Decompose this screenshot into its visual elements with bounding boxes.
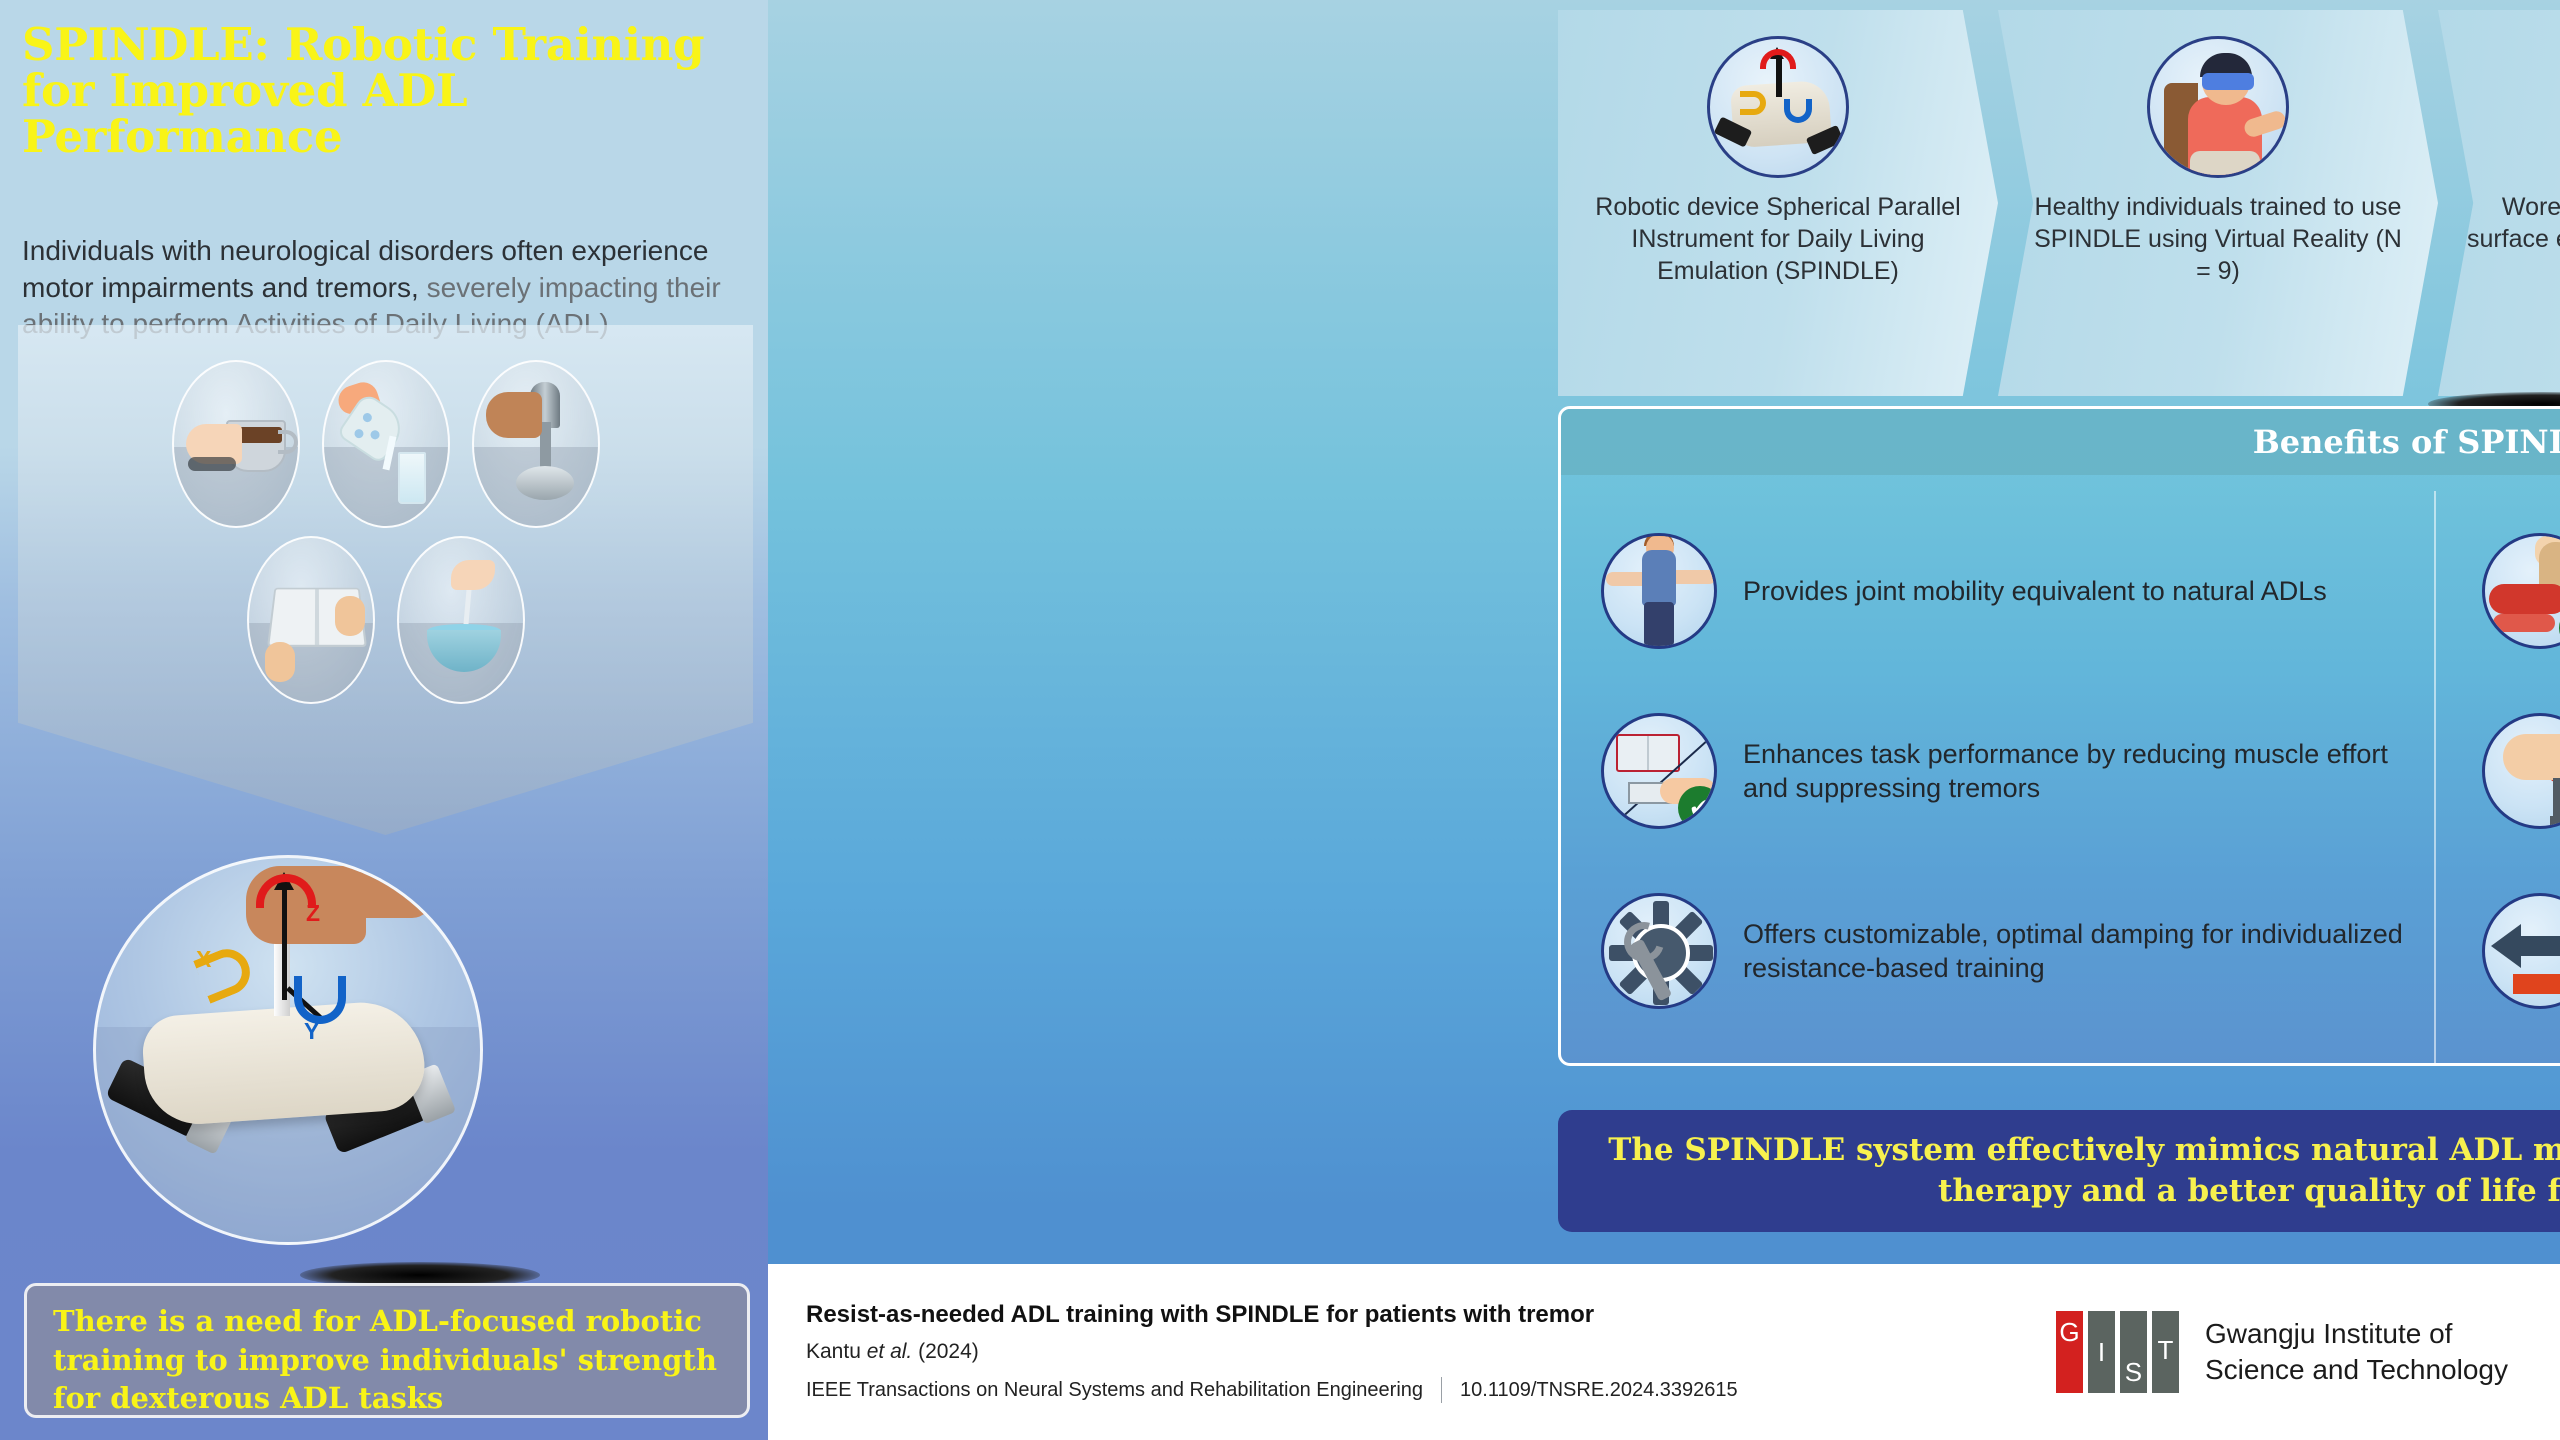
turning-faucet-icon — [472, 360, 600, 528]
benefit-item-joint-mobility-text: Provides joint mobility equivalent to na… — [1743, 574, 2327, 608]
infographic-page: SPINDLE: Robotic Training for Improved A… — [0, 0, 2560, 1440]
journal-name: IEEE Transactions on Neural Systems and … — [806, 1379, 1423, 1402]
left-panel: SPINDLE: Robotic Training for Improved A… — [0, 0, 768, 1440]
gist-letter-i: I — [2088, 1311, 2115, 1393]
holding-cup-icon — [172, 360, 300, 528]
benefit-item-strength: ✔ Improves upper limb strength and dexte… — [2482, 501, 2560, 681]
benefit-item-damping: Offers customizable, optimal damping for… — [1601, 861, 2406, 1041]
benefits-column-left: Provides joint mobility equivalent to na… — [1561, 491, 2434, 1066]
conclusion-text: The SPINDLE system effectively mimics na… — [1598, 1130, 2560, 1212]
bicep-muscle-icon: ✔ — [2482, 533, 2560, 649]
journal-row: IEEE Transactions on Neural Systems and … — [806, 1377, 2056, 1403]
pouring-jug-icon — [322, 360, 450, 528]
benefits-card: Benefits of SPINDLE Provides joint mobil… — [1558, 406, 2560, 1066]
gist-letter-t: T — [2152, 1311, 2179, 1393]
authors-year: (2024) — [912, 1340, 979, 1363]
footer-citation-bar: Resist-as-needed ADL training with SPIND… — [768, 1264, 2560, 1440]
hand-screwdriver-icon — [2482, 713, 2560, 829]
page-title: SPINDLE: Robotic Training for Improved A… — [22, 22, 722, 160]
benefits-columns: Provides joint mobility equivalent to na… — [1561, 475, 2560, 1066]
adl-icon-grid — [18, 360, 753, 712]
benefits-header: Benefits of SPINDLE — [1561, 409, 2560, 475]
doi-text[interactable]: 10.1109/TNSRE.2024.3392615 — [1460, 1379, 1738, 1402]
benefit-item-damping-text: Offers customizable, optimal damping for… — [1743, 917, 2406, 986]
journal-doi-divider — [1441, 1377, 1442, 1403]
benefit-item-task-performance: ✔ Enhances task performance by reducing … — [1601, 681, 2406, 861]
workflow-step-2-label: Healthy individuals trained to use SPIND… — [2024, 192, 2411, 287]
adl-icon-row-top — [18, 360, 753, 528]
paper-authors: Kantu et al. (2024) — [806, 1340, 2056, 1364]
person-arms-out-icon — [1601, 533, 1717, 649]
gist-logo-text: Gwangju Institute of Science and Technol… — [2205, 1316, 2508, 1388]
gist-logo-line-2: Science and Technology — [2205, 1352, 2508, 1388]
x-axis-label: X — [196, 946, 211, 973]
stirring-bowl-icon — [397, 536, 525, 704]
benefit-item-task-performance-text: Enhances task performance by reducing mu… — [1743, 737, 2406, 806]
citation-block: Resist-as-needed ADL training with SPIND… — [806, 1301, 2056, 1403]
workflow-step-1: Robotic device Spherical Parallel INstru… — [1558, 10, 1998, 396]
turning-book-page-icon — [247, 536, 375, 704]
z-axis-label: Z — [306, 900, 320, 927]
workflow-step-3-label: Wore reflective markers and surface elec… — [2464, 192, 2560, 256]
spindle-robot-icon — [1707, 36, 1849, 178]
benefit-item-neurophysiological: Enhances neurophysiological factors like… — [2482, 681, 2560, 861]
gist-logo: G I S T Gwangju Institute of Science and… — [2056, 1311, 2520, 1393]
adl-icon-row-bottom — [18, 536, 753, 704]
y-axis-label: Y — [304, 1018, 319, 1045]
paper-title: Resist-as-needed ADL training with SPIND… — [806, 1301, 2056, 1329]
need-callout-text: There is a need for ADL-focused robotic … — [53, 1302, 721, 1418]
benefit-item-joint-mobility: Provides joint mobility equivalent to na… — [1601, 501, 2406, 681]
gear-wrench-icon — [1601, 893, 1717, 1009]
right-panel: Robotic device Spherical Parallel INstru… — [768, 0, 2560, 1440]
gist-letter-s: S — [2120, 1311, 2147, 1393]
authors-prefix: Kantu — [806, 1340, 867, 1363]
need-callout-box: There is a need for ADL-focused robotic … — [24, 1283, 750, 1418]
workflow-step-2: Healthy individuals trained to use SPIND… — [1998, 10, 2438, 396]
benefit-item-transferability: Has the potential for transferability of… — [2482, 861, 2560, 1041]
workflow-step-1-label: Robotic device Spherical Parallel INstru… — [1584, 192, 1971, 287]
authors-etal: et al. — [867, 1340, 913, 1363]
gist-logo-mark: G I S T — [2056, 1311, 2179, 1393]
workflow-step-3: Wore reflective markers and surface elec… — [2438, 10, 2560, 396]
spindle-robot-illustration: Z X Y — [93, 855, 483, 1245]
vr-participant-icon — [2147, 36, 2289, 178]
gist-logo-line-1: Gwangju Institute of — [2205, 1316, 2508, 1352]
gist-letter-g: G — [2056, 1311, 2083, 1393]
check-badge-icon: ✔ — [1678, 786, 1717, 829]
benefits-heading: Benefits of SPINDLE — [2253, 423, 2560, 461]
book-page-turn-icon: ✔ — [1601, 713, 1717, 829]
benefits-column-right: ✔ Improves upper limb strength and dexte… — [2434, 491, 2560, 1066]
workflow-strip: Robotic device Spherical Parallel INstru… — [1558, 10, 2560, 396]
bidirectional-arrows-icon — [2482, 893, 2560, 1009]
conclusion-banner: The SPINDLE system effectively mimics na… — [1558, 1110, 2560, 1232]
